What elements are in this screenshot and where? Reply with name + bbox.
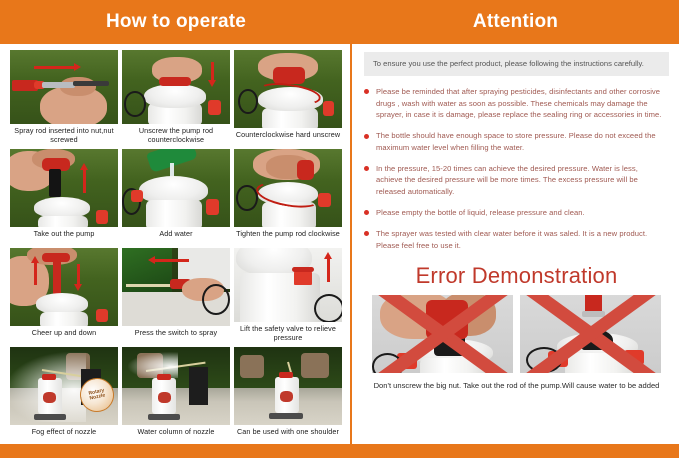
bullet-dot-icon <box>364 134 369 139</box>
bullet-dot-icon <box>364 231 369 236</box>
step-photo-one-shoulder-use <box>234 347 342 425</box>
page-title-attention: Attention <box>473 11 558 33</box>
page-body: Spray rod inserted into nut,nut screwed <box>0 44 679 444</box>
step-cell: Unscrew the pump rod counterclockwise <box>122 50 230 147</box>
list-item: Please empty the bottle of liquid, relea… <box>364 207 665 219</box>
step-caption: Add water <box>122 227 230 246</box>
steps-grid: Spray rod inserted into nut,nut screwed <box>10 50 342 444</box>
bullet-text: The sprayer was tested with clear water … <box>376 228 665 252</box>
error-demonstration-title: Error Demonstration <box>364 263 669 289</box>
red-x-icon <box>372 295 513 373</box>
step-caption: Press the switch to spray <box>122 326 230 345</box>
step-caption: Cheer up and down <box>10 326 118 345</box>
error-photo-unscrewing-big-nut <box>372 295 513 373</box>
step-caption: Lift the safety valve to relieve pressur… <box>234 322 342 345</box>
step-cell: Can be used with one shoulder <box>234 347 342 444</box>
step-photo-cheer-up-and-down <box>10 248 118 326</box>
step-photo-fog-effect-of-nozzle: Rotary Nozzle <box>10 347 118 425</box>
page-title-how-to-operate: How to operate <box>106 11 246 33</box>
list-item: The sprayer was tested with clear water … <box>364 228 665 252</box>
step-cell: Lift the safety valve to relieve pressur… <box>234 248 342 345</box>
step-cell: Cheer up and down <box>10 248 118 345</box>
step-photo-counterclockwise-unscrew <box>234 50 342 128</box>
step-caption: Spray rod inserted into nut,nut screwed <box>10 124 118 147</box>
list-item: In the pressure, 15-20 times can achieve… <box>364 163 665 198</box>
step-photo-press-switch-to-spray <box>122 248 230 326</box>
header-bar: How to operate Attention <box>0 0 679 44</box>
step-caption: Take out the pump <box>10 227 118 246</box>
list-item: Please be reminded that after spraying p… <box>364 86 665 121</box>
attention-panel: To ensure you use the perfect product, p… <box>352 44 679 444</box>
bullet-dot-icon <box>364 89 369 94</box>
error-photo-pump-rod-removed <box>520 295 661 373</box>
step-cell: Press the switch to spray <box>122 248 230 345</box>
header-right: Attention <box>352 0 679 44</box>
product-instruction-page: How to operate Attention <box>0 0 679 458</box>
error-demonstration-caption: Don't unscrew the big nut. Take out the … <box>364 380 669 391</box>
bullet-dot-icon <box>364 166 369 171</box>
step-cell: Water column of nozzle <box>122 347 230 444</box>
header-left: How to operate <box>0 0 352 44</box>
step-photo-spray-rod-inserted <box>10 50 118 124</box>
red-x-icon <box>520 295 661 373</box>
step-photo-unscrew-pump-rod <box>122 50 230 124</box>
step-caption: Counterclockwise hard unscrew <box>234 128 342 147</box>
step-photo-tighten-pump-rod <box>234 149 342 227</box>
bullet-text: The bottle should have enough space to s… <box>376 130 665 154</box>
step-cell: Tighten the pump rod clockwise <box>234 149 342 246</box>
step-caption: Unscrew the pump rod counterclockwise <box>122 124 230 147</box>
bullet-text: In the pressure, 15-20 times can achieve… <box>376 163 665 198</box>
step-caption: Fog effect of nozzle <box>10 425 118 444</box>
step-cell: Spray rod inserted into nut,nut screwed <box>10 50 118 147</box>
step-cell: Counterclockwise hard unscrew <box>234 50 342 147</box>
attention-bullet-list: Please be reminded that after spraying p… <box>364 86 669 251</box>
step-cell: Add water <box>122 149 230 246</box>
bullet-text: Please be reminded that after spraying p… <box>376 86 665 121</box>
error-demonstration-photos <box>364 295 669 373</box>
step-photo-water-column-of-nozzle <box>122 347 230 425</box>
footer-bar <box>0 444 679 458</box>
step-photo-take-out-pump <box>10 149 118 227</box>
step-cell: Take out the pump <box>10 149 118 246</box>
bullet-dot-icon <box>364 210 369 215</box>
step-photo-lift-safety-valve <box>234 248 342 322</box>
list-item: The bottle should have enough space to s… <box>364 130 665 154</box>
step-caption: Tighten the pump rod clockwise <box>234 227 342 246</box>
step-cell: Rotary Nozzle Fog effect of nozzle <box>10 347 118 444</box>
notice-banner: To ensure you use the perfect product, p… <box>364 52 669 76</box>
step-caption: Water column of nozzle <box>122 425 230 444</box>
step-caption: Can be used with one shoulder <box>234 425 342 444</box>
how-to-operate-panel: Spray rod inserted into nut,nut screwed <box>0 44 352 444</box>
bullet-text: Please empty the bottle of liquid, relea… <box>376 207 585 219</box>
step-photo-add-water <box>122 149 230 227</box>
